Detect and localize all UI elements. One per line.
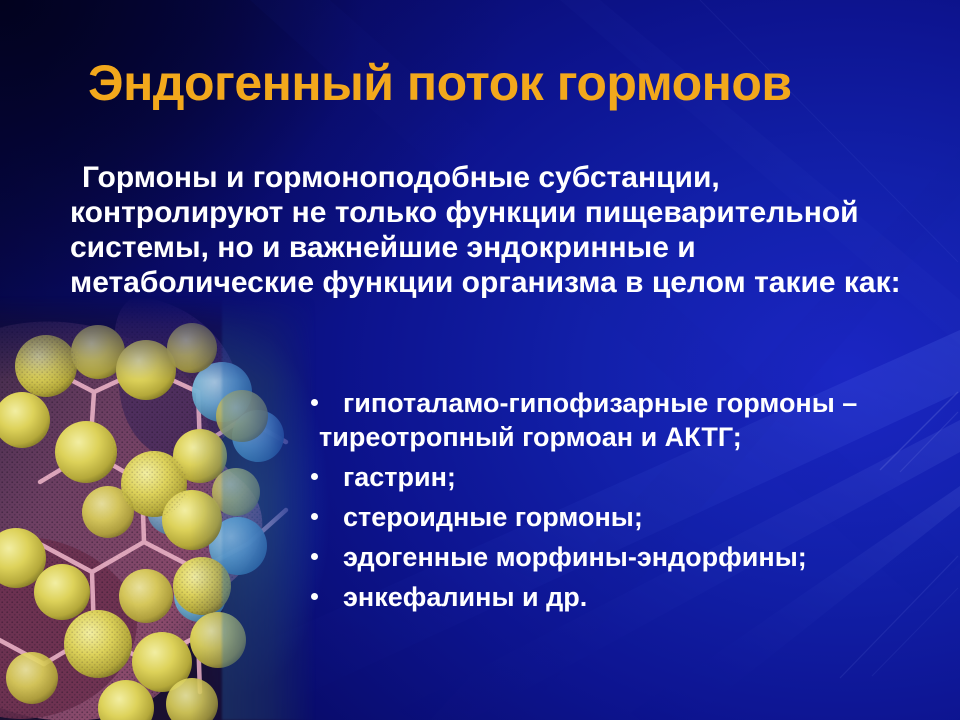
bullet-text: стероидные гормоны;	[343, 500, 955, 534]
bullet-text: энкефалины и др.	[343, 580, 955, 614]
list-item: энкефалины и др.	[305, 580, 955, 614]
bullet-list: гипоталамо-гипофизарные гормоны – тиреот…	[305, 386, 955, 620]
bullet-dot-icon	[311, 553, 318, 560]
list-item: гипоталамо-гипофизарные гормоны – тиреот…	[305, 386, 955, 454]
list-item: гастрин;	[305, 460, 955, 494]
bullet-dot-icon	[311, 399, 318, 406]
bullet-text: эдогенные морфины-эндорфины;	[343, 540, 955, 574]
presentation-slide: Эндогенный поток гормонов Гормоны и горм…	[0, 0, 960, 720]
slide-title: Эндогенный поток гормонов	[88, 58, 928, 109]
bullet-dot-icon	[311, 473, 318, 480]
intro-paragraph: Гормоны и гормоноподобные субстанции, ко…	[70, 160, 930, 300]
bullet-dot-icon	[311, 513, 318, 520]
molecular-model-image	[0, 296, 316, 720]
list-item: стероидные гормоны;	[305, 500, 955, 534]
bullet-dot-icon	[311, 593, 318, 600]
bullet-text: гастрин;	[343, 460, 955, 494]
list-item: эдогенные морфины-эндорфины;	[305, 540, 955, 574]
bullet-text: гипоталамо-гипофизарные гормоны –	[343, 386, 955, 420]
bullet-continuation: тиреотропный гормоан и АКТГ;	[319, 420, 955, 454]
